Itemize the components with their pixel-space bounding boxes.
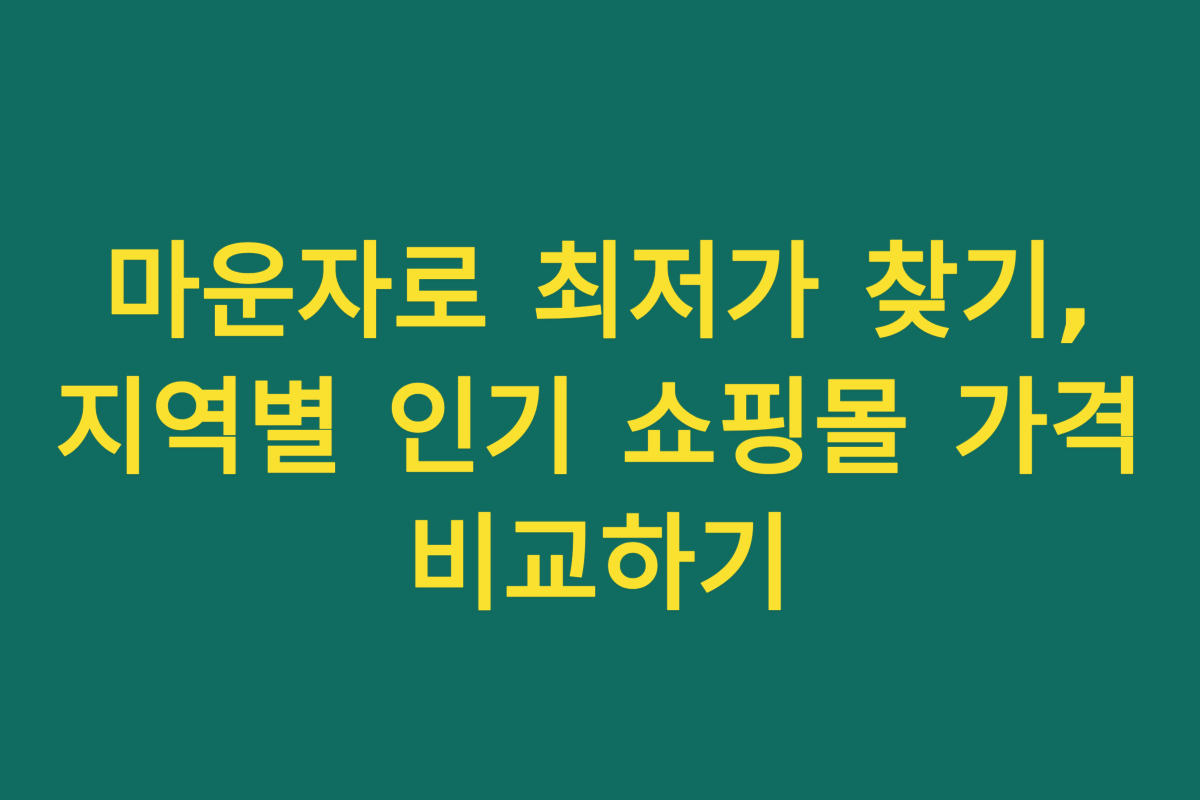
headline-line-2: 지역별 인기 쇼핑몰 가격: [40, 360, 1160, 496]
page-title: 마운자로 최저가 찾기, 지역별 인기 쇼핑몰 가격 비교하기: [40, 224, 1160, 632]
headline-line-1: 마운자로 최저가 찾기,: [40, 224, 1160, 360]
banner-canvas: 마운자로 최저가 찾기, 지역별 인기 쇼핑몰 가격 비교하기: [0, 0, 1200, 800]
headline-line-3: 비교하기: [40, 496, 1160, 632]
